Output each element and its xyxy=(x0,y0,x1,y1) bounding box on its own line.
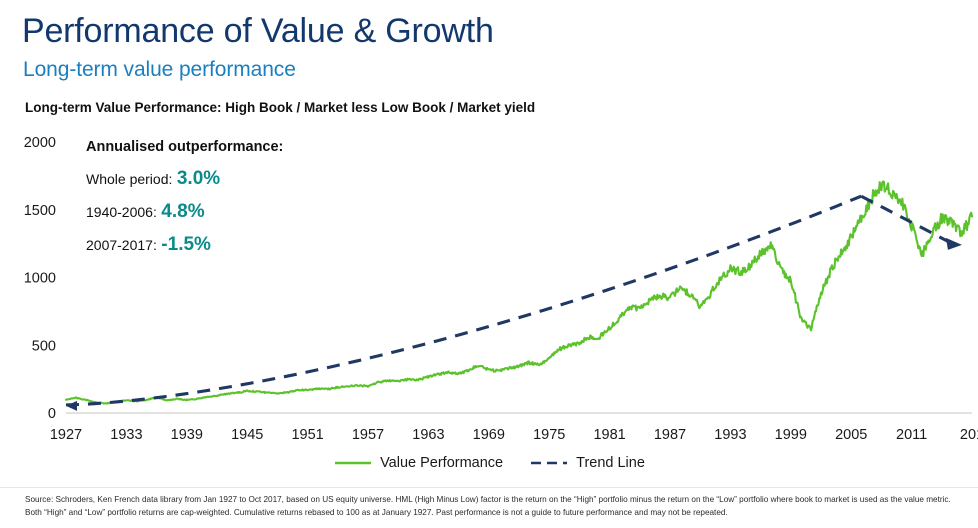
x-axis-tick-label: 201 xyxy=(960,427,978,443)
legend-label: Value Performance xyxy=(380,455,503,471)
annotation-label: 2007-2017: xyxy=(86,237,157,253)
page-subtitle: Long-term value performance xyxy=(23,58,296,82)
footer-divider xyxy=(0,487,978,488)
x-axis-tick-label: 1969 xyxy=(473,427,505,443)
y-axis-tick-label: 2000 xyxy=(24,135,56,151)
legend-label: Trend Line xyxy=(576,455,645,471)
annotation-heading-text: Annualised outperformance: xyxy=(86,139,283,155)
x-axis-tick-label: 1993 xyxy=(714,427,746,443)
x-axis-tick-label: 1951 xyxy=(291,427,323,443)
x-axis-tick-label: 1939 xyxy=(171,427,203,443)
legend-swatch-dashed-icon xyxy=(529,457,569,469)
x-axis-tick-label: 2005 xyxy=(835,427,867,443)
annotation-value: -1.5% xyxy=(161,234,211,255)
annotation-row-2007-2017: 2007-2017: -1.5% xyxy=(86,235,406,254)
annotation-value: 4.8% xyxy=(161,201,204,222)
x-axis-tick-label: 1975 xyxy=(533,427,565,443)
y-axis-tick-label: 1000 xyxy=(24,271,56,287)
annotation-value: 3.0% xyxy=(177,168,220,189)
page-title: Performance of Value & Growth xyxy=(22,12,494,51)
trend-arrowhead-icon xyxy=(946,238,962,250)
annotation-row-whole-period: Whole period: 3.0% xyxy=(86,169,406,188)
chart-legend: Value Performance Trend Line xyxy=(0,455,978,471)
x-axis-tick-label: 1927 xyxy=(50,427,82,443)
x-axis-tick-label: 1957 xyxy=(352,427,384,443)
annotation-heading: Annualised outperformance: xyxy=(86,139,406,155)
legend-swatch-solid-icon xyxy=(333,457,373,469)
chart-heading: Long-term Value Performance: High Book /… xyxy=(25,100,535,115)
trend-line-downtrend xyxy=(861,196,953,244)
x-axis-tick-label: 2011 xyxy=(896,427,927,443)
x-axis-tick-label: 1933 xyxy=(110,427,142,443)
x-axis-tick-label: 1999 xyxy=(775,427,807,443)
source-note: Source: Schroders, Ken French data libra… xyxy=(25,494,965,519)
legend-item-value-performance: Value Performance xyxy=(333,455,503,471)
x-axis-tick-label: 1963 xyxy=(412,427,444,443)
x-axis-tick-label: 1945 xyxy=(231,427,263,443)
annotation-label: Whole period: xyxy=(86,171,172,187)
x-axis-tick-label: 1987 xyxy=(654,427,686,443)
annotation-block: Annualised outperformance: Whole period:… xyxy=(86,139,406,268)
y-axis-tick-label: 0 xyxy=(48,406,56,422)
annotation-label: 1940-2006: xyxy=(86,204,157,220)
annotation-row-1940-2006: 1940-2006: 4.8% xyxy=(86,202,406,221)
y-axis-tick-label: 500 xyxy=(32,338,56,354)
x-axis-tick-label: 1981 xyxy=(593,427,625,443)
y-axis-tick-label: 1500 xyxy=(24,203,56,219)
legend-item-trend-line: Trend Line xyxy=(529,455,645,471)
trend-start-marker-icon xyxy=(66,401,77,411)
